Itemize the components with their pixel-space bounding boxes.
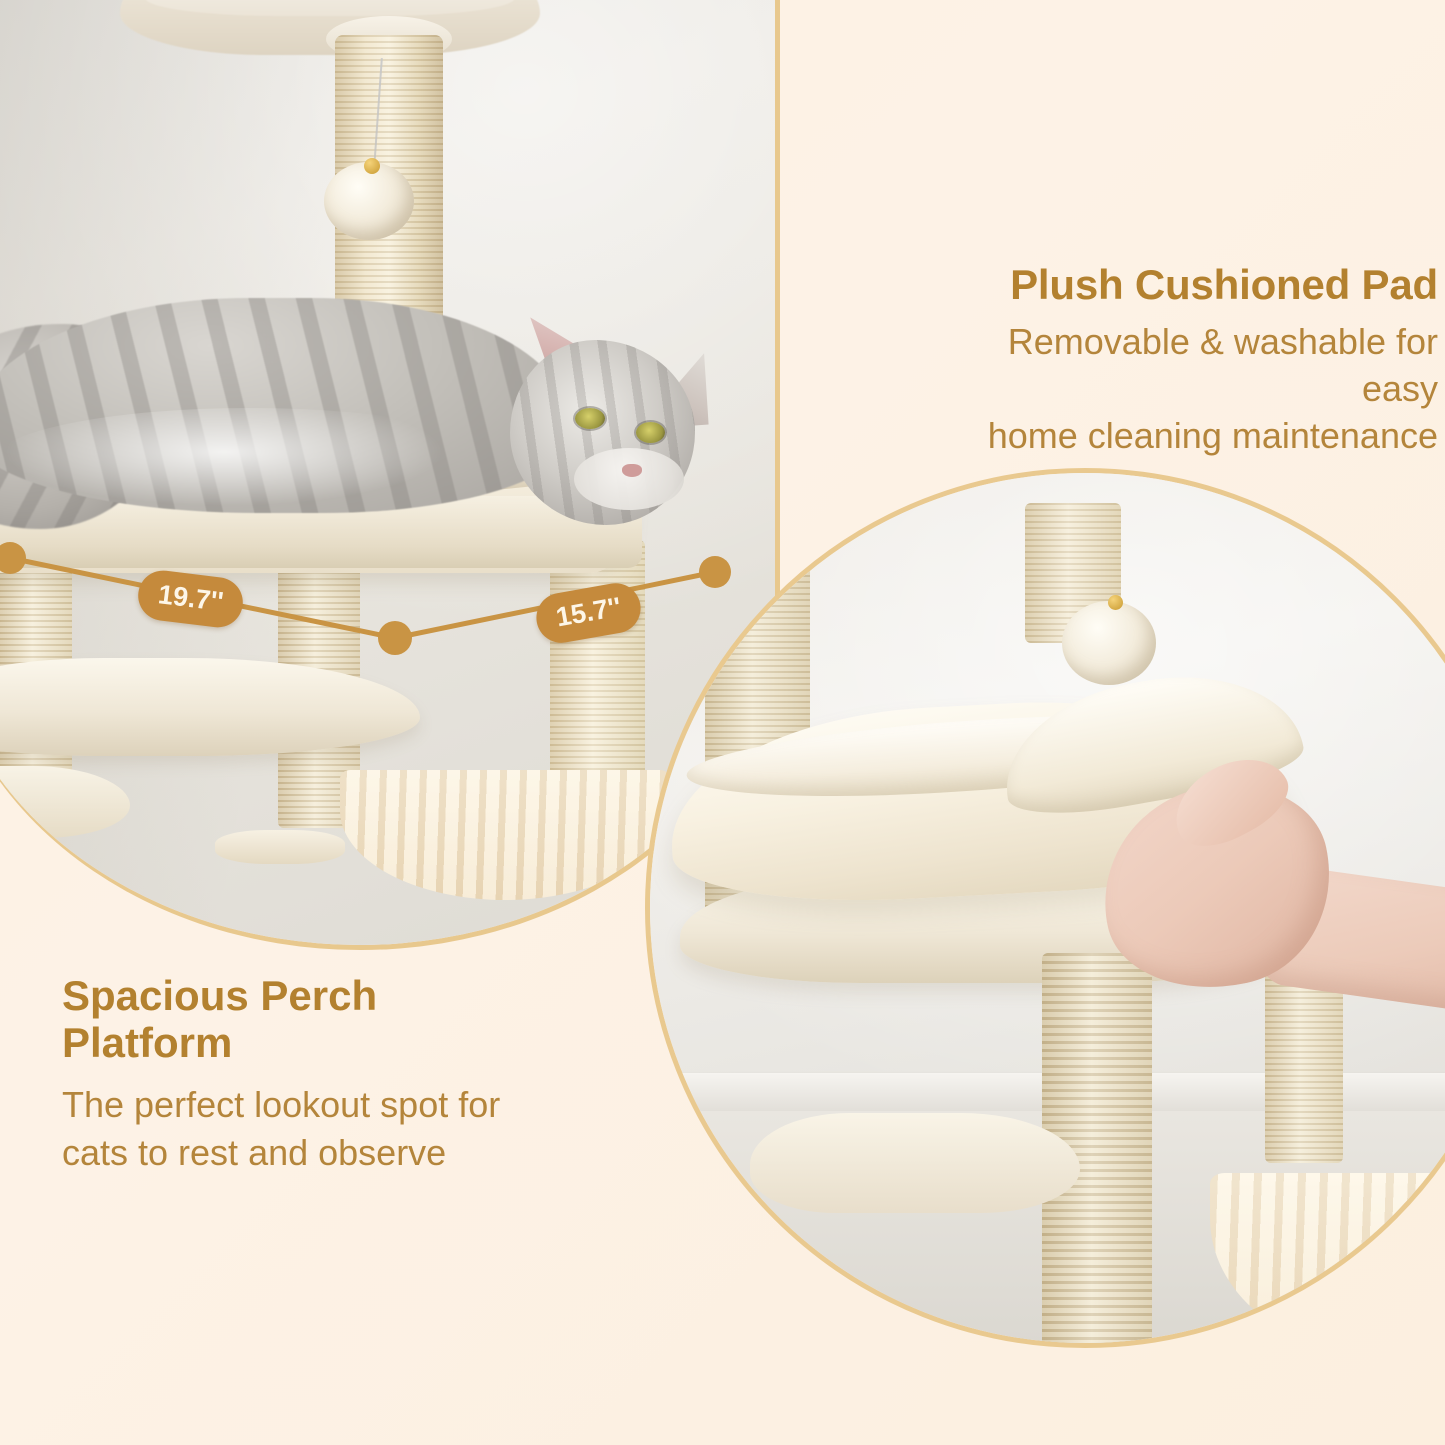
plush-cushioned-pad-line-2: easy xyxy=(840,366,1438,413)
cat-body-highlight xyxy=(0,408,510,518)
pompom-bell-icon xyxy=(364,158,380,174)
cat-eye-right xyxy=(636,422,665,443)
cat-tree-lower-platform xyxy=(750,1113,1080,1213)
cat-nose xyxy=(622,464,642,477)
spacious-perch-platform-line-2: cats to rest and observe xyxy=(62,1129,622,1177)
spacious-perch-platform-heading-line-2: Platform xyxy=(62,1019,622,1068)
plush-cushioned-pad-feature: Plush Cushioned Pad Removable & washable… xyxy=(840,262,1438,460)
spacious-perch-platform-heading-line-1: Spacious Perch xyxy=(62,972,622,1021)
plush-cushioned-pad-heading: Plush Cushioned Pad xyxy=(840,262,1438,307)
cat-eye-left xyxy=(575,408,605,429)
plush-cushioned-pad-line-3: home cleaning maintenance xyxy=(840,413,1438,460)
pompom-toy xyxy=(1062,601,1156,685)
spacious-perch-platform-line-1: The perfect lookout spot for xyxy=(62,1081,622,1129)
photo-background xyxy=(650,473,1445,1343)
hand-lifting-cushion-photo xyxy=(645,468,1445,1348)
infographic-canvas: Plush Cushioned Pad Removable & washable… xyxy=(0,0,1445,1445)
pompom-bell-icon xyxy=(1108,595,1123,610)
plush-cushioned-pad-line-1: Removable & washable for xyxy=(840,319,1438,366)
cat-illustration xyxy=(0,288,700,548)
cat-tree-foot xyxy=(215,830,345,864)
human-hand xyxy=(1102,773,1445,1073)
spacious-perch-platform-feature: Spacious Perch Platform The perfect look… xyxy=(62,972,622,1176)
